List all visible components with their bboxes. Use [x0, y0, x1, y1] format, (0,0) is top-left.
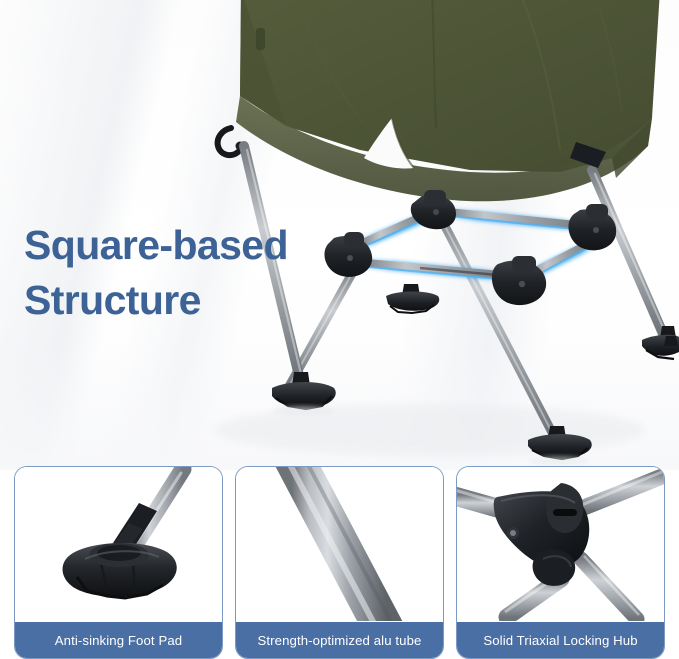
page-title: Square-based Structure [24, 218, 354, 328]
foot-pad-center [386, 284, 439, 313]
feature-panel-alu-tube[interactable]: Strength-optimized alu tube [235, 466, 444, 659]
product-feature-image: Square-based Structure [0, 0, 679, 659]
feature-label-foot-pad: Anti-sinking Foot Pad [15, 622, 222, 658]
chair-locking-hubs [324, 190, 616, 305]
chair-square-base-frame [352, 210, 600, 281]
foot-pad-far-right [664, 336, 678, 346]
feature-label-alu-tube: Strength-optimized alu tube [236, 622, 443, 658]
foot-pad-closeup-image [15, 467, 222, 622]
locking-hub-front [492, 256, 546, 305]
feature-panel-locking-hub[interactable]: Solid Triaxial Locking Hub [456, 466, 665, 659]
foot-pad-front-left [272, 372, 336, 416]
feature-panel-foot-pad[interactable]: Anti-sinking Foot Pad [14, 466, 223, 659]
locking-hub-closeup-image [457, 467, 664, 622]
feature-label-locking-hub: Solid Triaxial Locking Hub [457, 622, 664, 658]
alu-tube-closeup-image [236, 467, 443, 622]
feature-panels: Anti-sinking Foot Pad [0, 466, 679, 659]
